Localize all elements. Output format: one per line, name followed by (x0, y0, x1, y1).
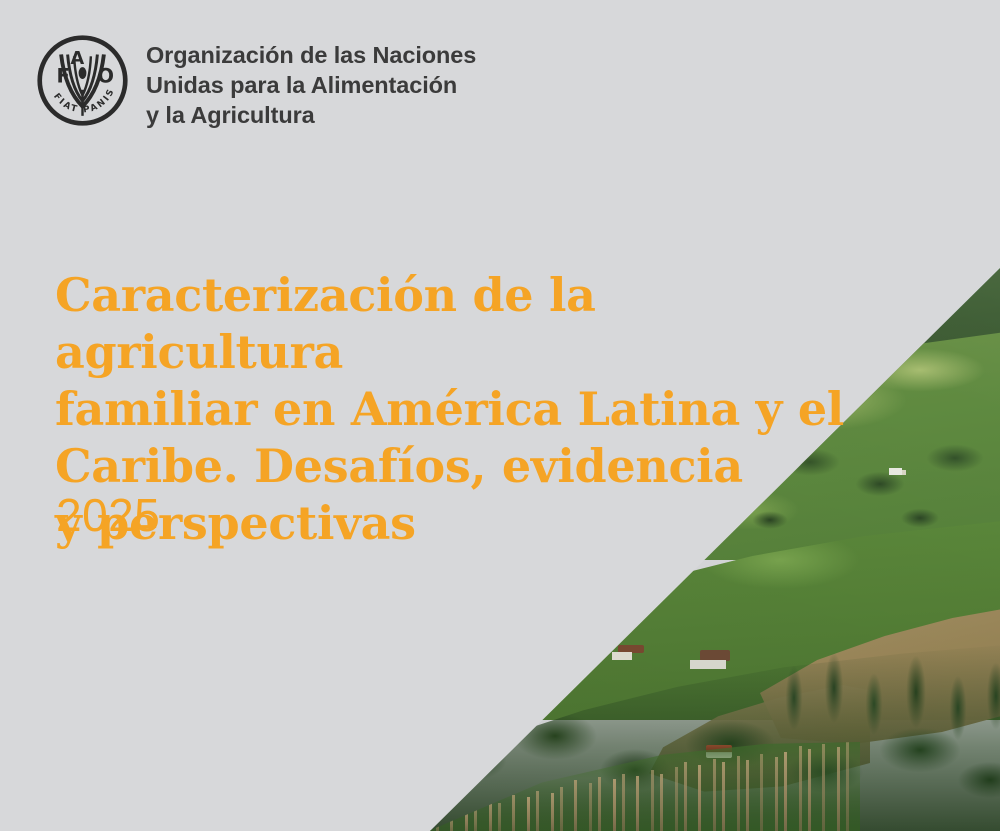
trellis-stake (560, 787, 563, 831)
trellis-stake (746, 760, 749, 831)
trellis-stake (651, 770, 654, 831)
trellis-stake (846, 742, 849, 831)
fao-header: F A O FIAT PANIS Organización de las Nac… (36, 34, 476, 130)
trellis-stake (837, 747, 840, 831)
trellis-stake (498, 803, 501, 831)
svg-text:A: A (71, 49, 85, 69)
trellis-stake (737, 756, 740, 831)
trellis-stake (775, 757, 778, 831)
trellis-stake (675, 767, 678, 831)
trellis-stake (512, 795, 515, 831)
trellis-stake (589, 783, 592, 831)
trellis-stake (613, 779, 616, 831)
trellis-stake (536, 791, 539, 831)
trellis-stake (598, 777, 601, 831)
trellis-stake (784, 752, 787, 831)
trellis-stake (684, 762, 687, 831)
trellis-stake (551, 793, 554, 831)
trellis-stake (660, 774, 663, 831)
distant-farmhouse (889, 468, 902, 475)
trellis-stake (713, 759, 716, 831)
svg-text:F: F (56, 64, 69, 87)
trellis-stake (822, 744, 825, 831)
trellis-stake (636, 776, 639, 831)
cover-page: F A O FIAT PANIS Organización de las Nac… (0, 0, 1000, 831)
page-title: Caracterización de la agricultura famili… (55, 267, 875, 552)
trellis-stake (722, 762, 725, 831)
trellis-stake (698, 765, 701, 831)
trellis-stake (574, 780, 577, 831)
fao-emblem-icon: F A O FIAT PANIS (36, 34, 129, 127)
trellis-stake (622, 774, 625, 831)
organization-name: Organización de las Naciones Unidas para… (146, 34, 476, 130)
trellis-stake (760, 754, 763, 831)
publication-year: 2025 (56, 488, 160, 542)
farmhouse-wall-center (690, 660, 726, 669)
trellis-stake (799, 746, 802, 831)
trellis-stake (808, 749, 811, 831)
svg-text:O: O (97, 64, 114, 87)
farmhouse-wall-left (612, 652, 632, 660)
trellis-stake (474, 808, 477, 831)
trellis-stake (527, 797, 530, 831)
